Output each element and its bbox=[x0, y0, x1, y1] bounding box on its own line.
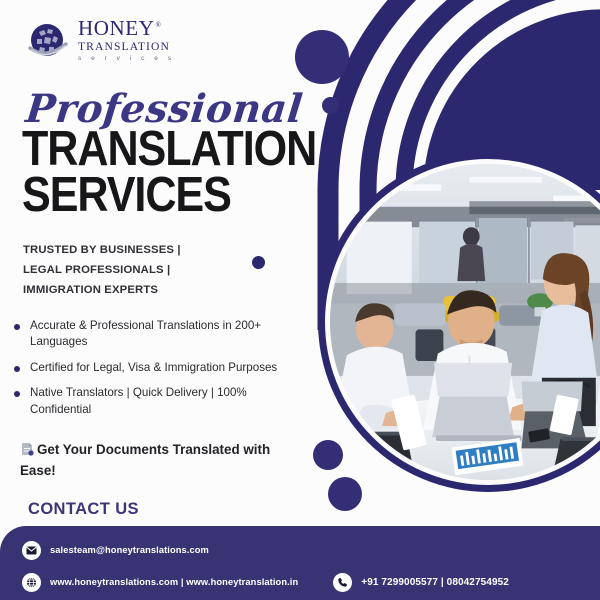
headline-main: TRANSLATION SERVICES bbox=[22, 126, 316, 218]
list-item-label: Certified for Legal, Visa & Immigration … bbox=[30, 360, 277, 376]
headline-line1: TRANSLATION bbox=[22, 126, 316, 172]
list-item: Accurate & Professional Translations in … bbox=[14, 318, 306, 351]
bullet-dot-icon bbox=[14, 366, 20, 372]
bullet-dot-icon bbox=[14, 391, 20, 397]
list-item: Native Translators | Quick Delivery | 10… bbox=[14, 385, 306, 418]
contact-us-heading: CONTACT US bbox=[28, 500, 139, 519]
list-item-label: Accurate & Professional Translations in … bbox=[30, 318, 306, 351]
document-icon bbox=[20, 442, 34, 462]
headline-line2: SERVICES bbox=[22, 172, 316, 218]
contact-row-web-phone: www.honeytranslations.com | www.honeytra… bbox=[22, 569, 600, 595]
globe-icon bbox=[26, 20, 70, 64]
logo-line3: s e r v i c e s bbox=[78, 54, 175, 65]
trusted-line-1: TRUSTED BY BUSINESSES | bbox=[23, 240, 181, 260]
contact-phone-group[interactable]: +91 7299005577 | 08042754952 bbox=[333, 573, 509, 592]
cta-label: Get Your Documents Translated with Ease! bbox=[20, 442, 270, 478]
content-layer: HONEY® TRANSLATION s e r v i c e s Profe… bbox=[0, 0, 600, 600]
brand-logo[interactable]: HONEY® TRANSLATION s e r v i c e s bbox=[26, 18, 175, 65]
trusted-by-block: TRUSTED BY BUSINESSES | LEGAL PROFESSION… bbox=[23, 240, 181, 300]
list-item: Certified for Legal, Visa & Immigration … bbox=[14, 360, 306, 376]
contact-footer-bar: salesteam@honeytranslations.com www.hone… bbox=[0, 526, 600, 600]
phone-icon bbox=[333, 573, 352, 592]
poster-canvas: HONEY® TRANSLATION s e r v i c e s Profe… bbox=[0, 0, 600, 600]
logo-name: HONEY bbox=[78, 16, 155, 40]
globe-icon bbox=[22, 573, 41, 592]
phone-value: +91 7299005577 | 08042754952 bbox=[361, 577, 509, 588]
email-value: salesteam@honeytranslations.com bbox=[50, 545, 209, 555]
list-item-label: Native Translators | Quick Delivery | 10… bbox=[30, 385, 306, 418]
registered-mark: ® bbox=[156, 21, 162, 29]
logo-line2: TRANSLATION bbox=[78, 40, 175, 54]
contact-row-email[interactable]: salesteam@honeytranslations.com bbox=[22, 537, 600, 563]
website-value[interactable]: www.honeytranslations.com | www.honeytra… bbox=[50, 577, 298, 587]
trusted-line-2: LEGAL PROFESSIONALS | bbox=[23, 260, 181, 280]
feature-list: Accurate & Professional Translations in … bbox=[14, 318, 306, 427]
envelope-icon bbox=[22, 541, 41, 560]
cta-text-block: Get Your Documents Translated with Ease! bbox=[20, 441, 300, 480]
trusted-line-3: IMMIGRATION EXPERTS bbox=[23, 280, 181, 300]
bullet-dot-icon bbox=[14, 324, 20, 330]
